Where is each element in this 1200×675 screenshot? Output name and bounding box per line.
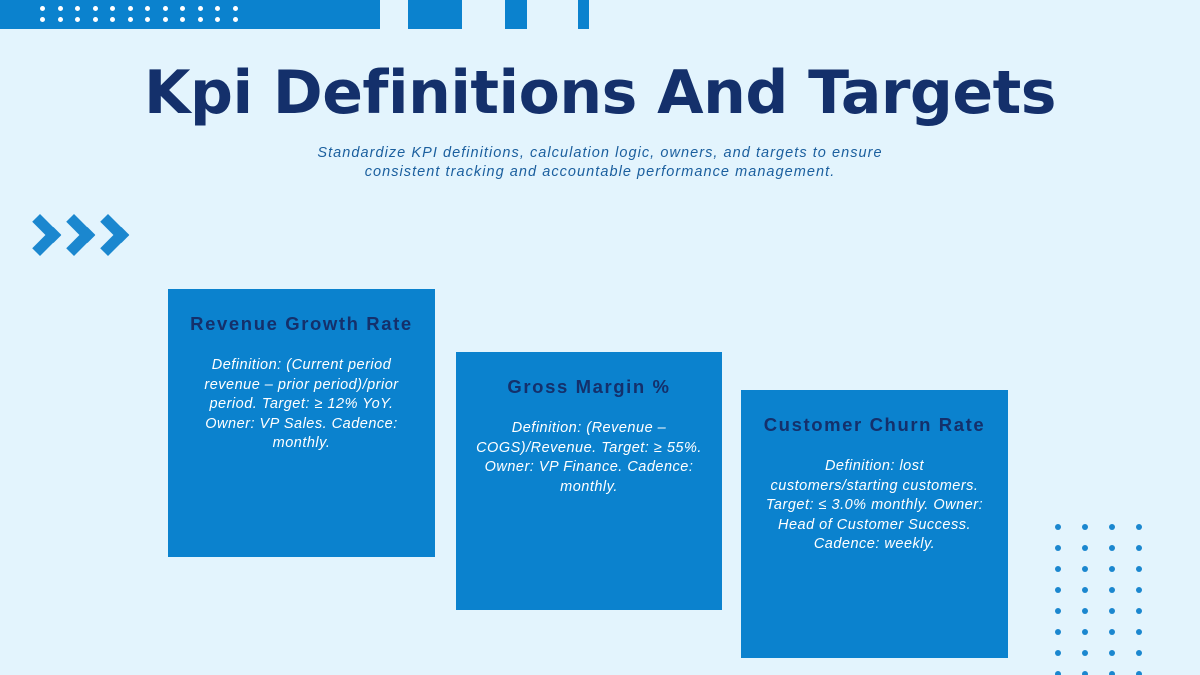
corner-dot (1082, 608, 1088, 614)
corner-dot (1055, 671, 1061, 675)
corner-dot (1109, 671, 1115, 675)
corner-dot (1055, 566, 1061, 572)
corner-dot (1082, 671, 1088, 675)
corner-dot (1136, 608, 1142, 614)
kpi-card-body: Definition: lost customers/starting cust… (759, 457, 990, 555)
corner-dot (1055, 608, 1061, 614)
corner-dot (1055, 524, 1061, 530)
corner-dot (1136, 566, 1142, 572)
corner-dot (1082, 587, 1088, 593)
banner-block-4 (578, 0, 589, 29)
chevron-right-icon-group (40, 206, 144, 264)
corner-dot (1109, 545, 1115, 551)
top-banner (0, 0, 1200, 30)
corner-dot (1055, 587, 1061, 593)
corner-dot (1055, 629, 1061, 635)
corner-dot (1082, 650, 1088, 656)
kpi-card-title: Customer Churn Rate (759, 412, 990, 437)
corner-dot (1136, 671, 1142, 675)
chevron-right-icon (108, 206, 138, 264)
banner-block-2 (408, 0, 462, 29)
corner-dot (1136, 587, 1142, 593)
page-subtitle: Standardize KPI definitions, calculation… (290, 144, 910, 182)
corner-dot (1109, 650, 1115, 656)
corner-dot-pattern (1055, 524, 1163, 675)
kpi-card-body: Definition: (Current period revenue – pr… (186, 356, 417, 454)
corner-dot (1082, 629, 1088, 635)
kpi-card-customer-churn-rate: Customer Churn Rate Definition: lost cus… (741, 390, 1008, 658)
corner-dot (1109, 524, 1115, 530)
corner-dot (1109, 608, 1115, 614)
corner-dot (1109, 566, 1115, 572)
kpi-card-title: Revenue Growth Rate (186, 311, 417, 336)
corner-dot (1055, 650, 1061, 656)
corner-dot (1136, 524, 1142, 530)
corner-dot (1082, 545, 1088, 551)
page-title: Kpi Definitions And Targets (0, 57, 1200, 129)
kpi-card-gross-margin: Gross Margin % Definition: (Revenue – CO… (456, 352, 722, 610)
chevron-right-icon (40, 206, 70, 264)
chevron-right-icon (74, 206, 104, 264)
kpi-card-revenue-growth-rate: Revenue Growth Rate Definition: (Current… (168, 289, 435, 557)
corner-dot (1136, 629, 1142, 635)
corner-dot (1109, 629, 1115, 635)
corner-dot (1055, 545, 1061, 551)
kpi-card-body: Definition: (Revenue – COGS)/Revenue. Ta… (474, 419, 704, 497)
corner-dot (1082, 566, 1088, 572)
corner-dot (1136, 545, 1142, 551)
corner-dot (1136, 650, 1142, 656)
slide-canvas: Kpi Definitions And Targets Standardize … (0, 0, 1200, 675)
corner-dot (1109, 587, 1115, 593)
banner-block-3 (505, 0, 527, 29)
corner-dot (1082, 524, 1088, 530)
banner-block-1 (0, 0, 380, 29)
kpi-card-title: Gross Margin % (474, 374, 704, 399)
